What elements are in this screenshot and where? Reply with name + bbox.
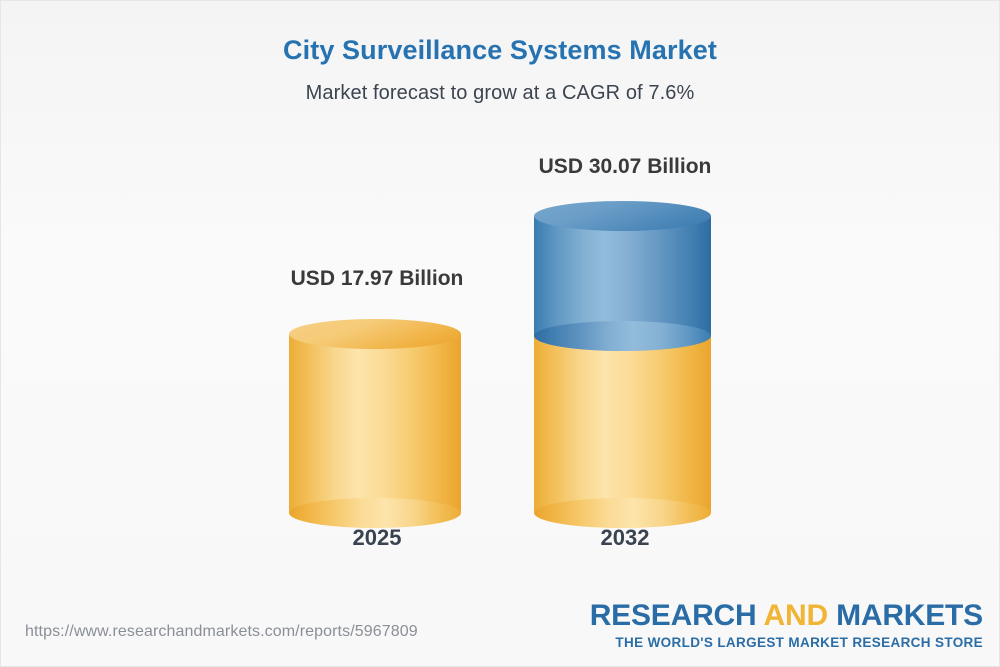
category-label-2032: 2032: [527, 525, 723, 551]
cylinder-top-cap: [534, 201, 711, 231]
report-url[interactable]: https://www.researchandmarkets.com/repor…: [25, 623, 418, 641]
cylinder-bottom-curve: [534, 498, 711, 528]
cylinder-bottom-curve: [289, 498, 461, 528]
cylinder-top-cap: [289, 319, 461, 349]
brand-logo-tagline: THE WORLD'S LARGEST MARKET RESEARCH STOR…: [590, 636, 983, 650]
bar-value-label-2025: USD 17.97 Billion: [279, 267, 475, 291]
category-label-2025: 2025: [279, 525, 475, 551]
logo-word-and: AND: [764, 599, 828, 632]
cylinder-body: [289, 334, 461, 513]
bar-segment-gold-2025: [289, 334, 461, 513]
plot-area: USD 17.97 Billion USD 30.07 Billion: [1, 1, 1000, 667]
bar-cylinder-2032[interactable]: [534, 216, 711, 513]
bar-value-label-2032: USD 30.07 Billion: [527, 155, 723, 179]
brand-logo-wordmark: RESEARCH AND MARKETS: [590, 601, 983, 631]
bar-segment-blue-2032: [534, 216, 711, 336]
bar-cylinder-2025[interactable]: [289, 334, 461, 513]
bar-segment-gold-2032: [534, 336, 711, 513]
brand-logo[interactable]: RESEARCH AND MARKETS THE WORLD'S LARGEST…: [590, 601, 983, 650]
logo-word-markets: MARKETS: [836, 599, 983, 632]
cylinder-bottom-curve: [534, 321, 711, 351]
cylinder-body: [534, 336, 711, 513]
cylinder-body: [534, 216, 711, 336]
chart-canvas: City Surveillance Systems Market Market …: [0, 0, 1000, 667]
logo-word-research: RESEARCH: [590, 599, 757, 632]
